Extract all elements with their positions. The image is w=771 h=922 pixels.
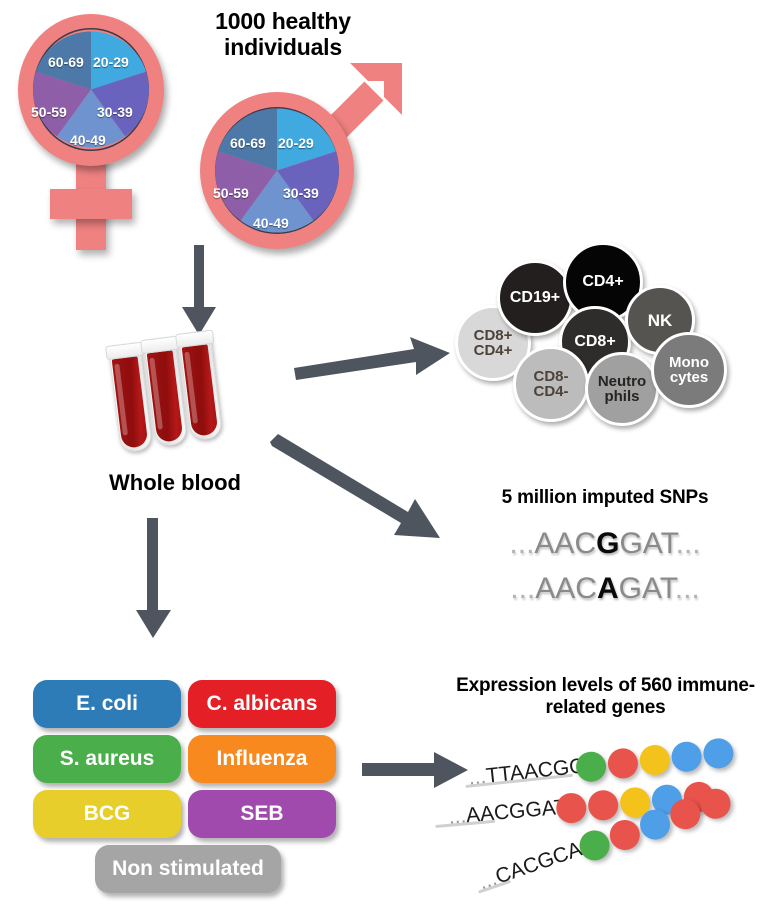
arrow-cohort-to-blood (178, 245, 222, 337)
expression-bead (670, 740, 703, 773)
snp-suffix: ... (675, 572, 700, 605)
snp-prefix: ... (510, 572, 535, 605)
male-gender-symbol: 20-29 30-39 40-49 50-59 60-69 (200, 60, 415, 255)
expression-bead (606, 816, 644, 854)
cell-line: NK (648, 312, 673, 329)
whole-blood-tubes (108, 333, 238, 453)
cell-line: CD8- (533, 369, 568, 384)
snp-right: GAT (619, 527, 675, 560)
stimulus-e-coli[interactable]: E. coli (33, 680, 181, 728)
snp-left: AAC (535, 572, 597, 605)
snp-left: AAC (534, 527, 596, 560)
cell-line: CD4+ (474, 343, 513, 358)
cell-line: CD8+ (574, 334, 615, 350)
stimulus-influenza[interactable]: Influenza (188, 735, 336, 783)
snp-prefix: ... (509, 527, 534, 560)
stimulus-s-aureus[interactable]: S. aureus (33, 735, 181, 783)
cell-line: Mono (669, 355, 709, 370)
cohort-title: 1000 healthy individuals (168, 8, 398, 61)
cell-line: cytes (670, 370, 708, 385)
cell-line: phils (604, 389, 639, 404)
snp-suffix: ... (676, 527, 701, 560)
expression-strands: ...TTAACGG ...AACGGAT ...CACGCAA (455, 735, 771, 915)
stimulus-non-stimulated[interactable]: Non stimulated (95, 845, 281, 893)
whole-blood-label: Whole blood (60, 470, 290, 496)
female-stem-cross (50, 189, 132, 219)
strand-lead: ... (448, 804, 467, 828)
strand-bases: TTAACGG (485, 754, 587, 787)
male-age-pie (215, 107, 339, 234)
strand-sequence: ...AACGGAT (448, 795, 568, 829)
snp-variant: A (597, 572, 619, 605)
female-gender-symbol: 20-29 30-39 40-49 50-59 60-69 (10, 12, 200, 247)
stimulus-bcg[interactable]: BCG (33, 790, 181, 838)
male-pie-svg (215, 107, 339, 234)
stimulus-label: E. coli (76, 692, 138, 716)
snp-sequence-row: ...AACGGAT... (455, 527, 755, 561)
snp-right: GAT (619, 572, 675, 605)
immune-cell-cd19p: CD19+ (497, 260, 573, 336)
expression-bead (638, 744, 671, 777)
stimulus-label: S. aureus (60, 747, 155, 771)
figure-canvas: 1000 healthy individuals 20-29 30-39 40-… (0, 0, 771, 922)
cell-line: CD19+ (510, 290, 560, 306)
snp-sequences: ...AACGGAT... ...AACAGAT... (455, 527, 755, 617)
stimulus-label: BCG (84, 802, 131, 826)
stimulus-label: C. albicans (207, 692, 318, 716)
arrow-blood-to-immune (292, 333, 452, 381)
stimulation-conditions: E. coli C. albicans S. aureus Influenza … (33, 680, 343, 895)
stimulus-label: Influenza (216, 747, 307, 771)
female-age-pie (33, 28, 149, 151)
expression-bead (606, 747, 639, 780)
stimulus-seb[interactable]: SEB (188, 790, 336, 838)
immune-cell-neutrophils: Neutro phils (585, 352, 659, 426)
cell-line: CD4+ (582, 274, 623, 290)
snp-sequence-row: ...AACAGAT... (455, 572, 755, 606)
arrow-blood-to-snps (268, 440, 444, 546)
arrow-blood-to-stimuli (133, 518, 177, 640)
snp-variant: G (596, 527, 619, 560)
immune-cell-cd8n-cd4n: CD8- CD4- (513, 346, 589, 422)
stimulus-label: SEB (240, 802, 283, 826)
cell-line: CD4- (533, 384, 568, 399)
strand-bases: AACGGAT (465, 795, 568, 827)
stimulus-c-albicans[interactable]: C. albicans (188, 680, 336, 728)
blood-tube (108, 343, 151, 451)
stimulus-label: Non stimulated (112, 857, 264, 881)
expression-bead (587, 789, 620, 822)
snps-title: 5 million imputed SNPs (440, 487, 770, 509)
cell-line: Neutro (598, 374, 646, 389)
cell-line: CD8+ (474, 328, 513, 343)
arrow-stimuli-to-expression (362, 752, 470, 790)
expression-title: Expression levels of 560 immune-related … (440, 675, 771, 719)
immune-cell-monocytes: Mono cytes (651, 332, 727, 408)
strand-sequence: ...TTAACGG (467, 754, 586, 790)
immune-cell-cluster: CD8+ CD4+ CD19+ CD4+ CD8+ NK CD8- CD4- N… (455, 240, 771, 430)
expression-bead (702, 737, 735, 770)
female-pie-svg (33, 28, 149, 151)
